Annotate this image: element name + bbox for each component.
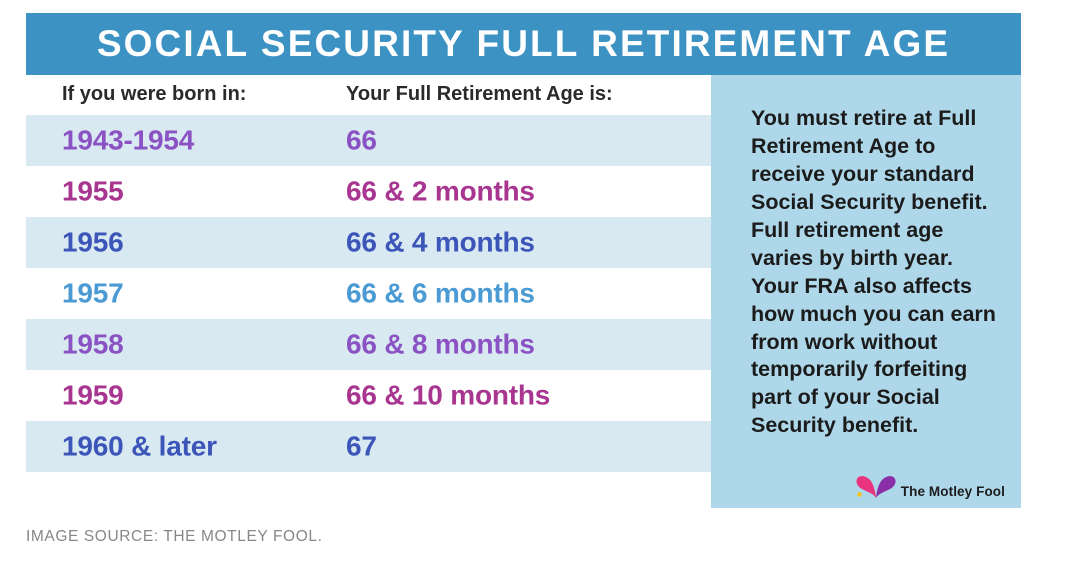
table-row: 1960 & later 67 [26,421,711,472]
cell-birth-year: 1956 [62,226,124,258]
cell-birth-year: 1958 [62,328,124,360]
table-row: 1958 66 & 8 months [26,319,711,370]
cell-birth-year: 1959 [62,379,124,411]
cell-retirement-age: 66 & 2 months [346,175,535,207]
column-header-retirement-age: Your Full Retirement Age is: [346,83,613,106]
retirement-age-table: If you were born in: Your Full Retiremen… [26,75,711,472]
cell-retirement-age: 67 [346,430,377,462]
cell-birth-year: 1957 [62,277,124,309]
table-row: 1956 66 & 4 months [26,217,711,268]
side-info-panel: You must retire at Full Retirement Age t… [711,75,1021,508]
cell-retirement-age: 66 [346,124,377,156]
table-header-row: If you were born in: Your Full Retiremen… [26,75,711,115]
infographic-root: SOCIAL SECURITY FULL RETIREMENT AGE If y… [0,0,1068,565]
cell-birth-year: 1943-1954 [62,124,194,156]
image-source-caption: IMAGE SOURCE: THE MOTLEY FOOL. [26,528,322,546]
table-row: 1943-1954 66 [26,115,711,166]
column-header-birth-year: If you were born in: [62,83,246,106]
cell-birth-year: 1955 [62,175,124,207]
cell-retirement-age: 66 & 10 months [346,379,550,411]
page-title: SOCIAL SECURITY FULL RETIREMENT AGE [97,23,950,65]
cell-birth-year: 1960 & later [62,430,217,462]
table-row: 1957 66 & 6 months [26,268,711,319]
table-row: 1955 66 & 2 months [26,166,711,217]
infographic-title-bar: SOCIAL SECURITY FULL RETIREMENT AGE [26,13,1021,75]
motley-fool-logo: The Motley Fool [855,473,1005,500]
side-panel-body: You must retire at Full Retirement Age t… [751,105,1001,440]
table-row: 1959 66 & 10 months [26,370,711,421]
jester-hat-icon [855,473,897,499]
motley-fool-logo-text: The Motley Fool [901,484,1005,499]
cell-retirement-age: 66 & 6 months [346,277,535,309]
cell-retirement-age: 66 & 8 months [346,328,535,360]
cell-retirement-age: 66 & 4 months [346,226,535,258]
